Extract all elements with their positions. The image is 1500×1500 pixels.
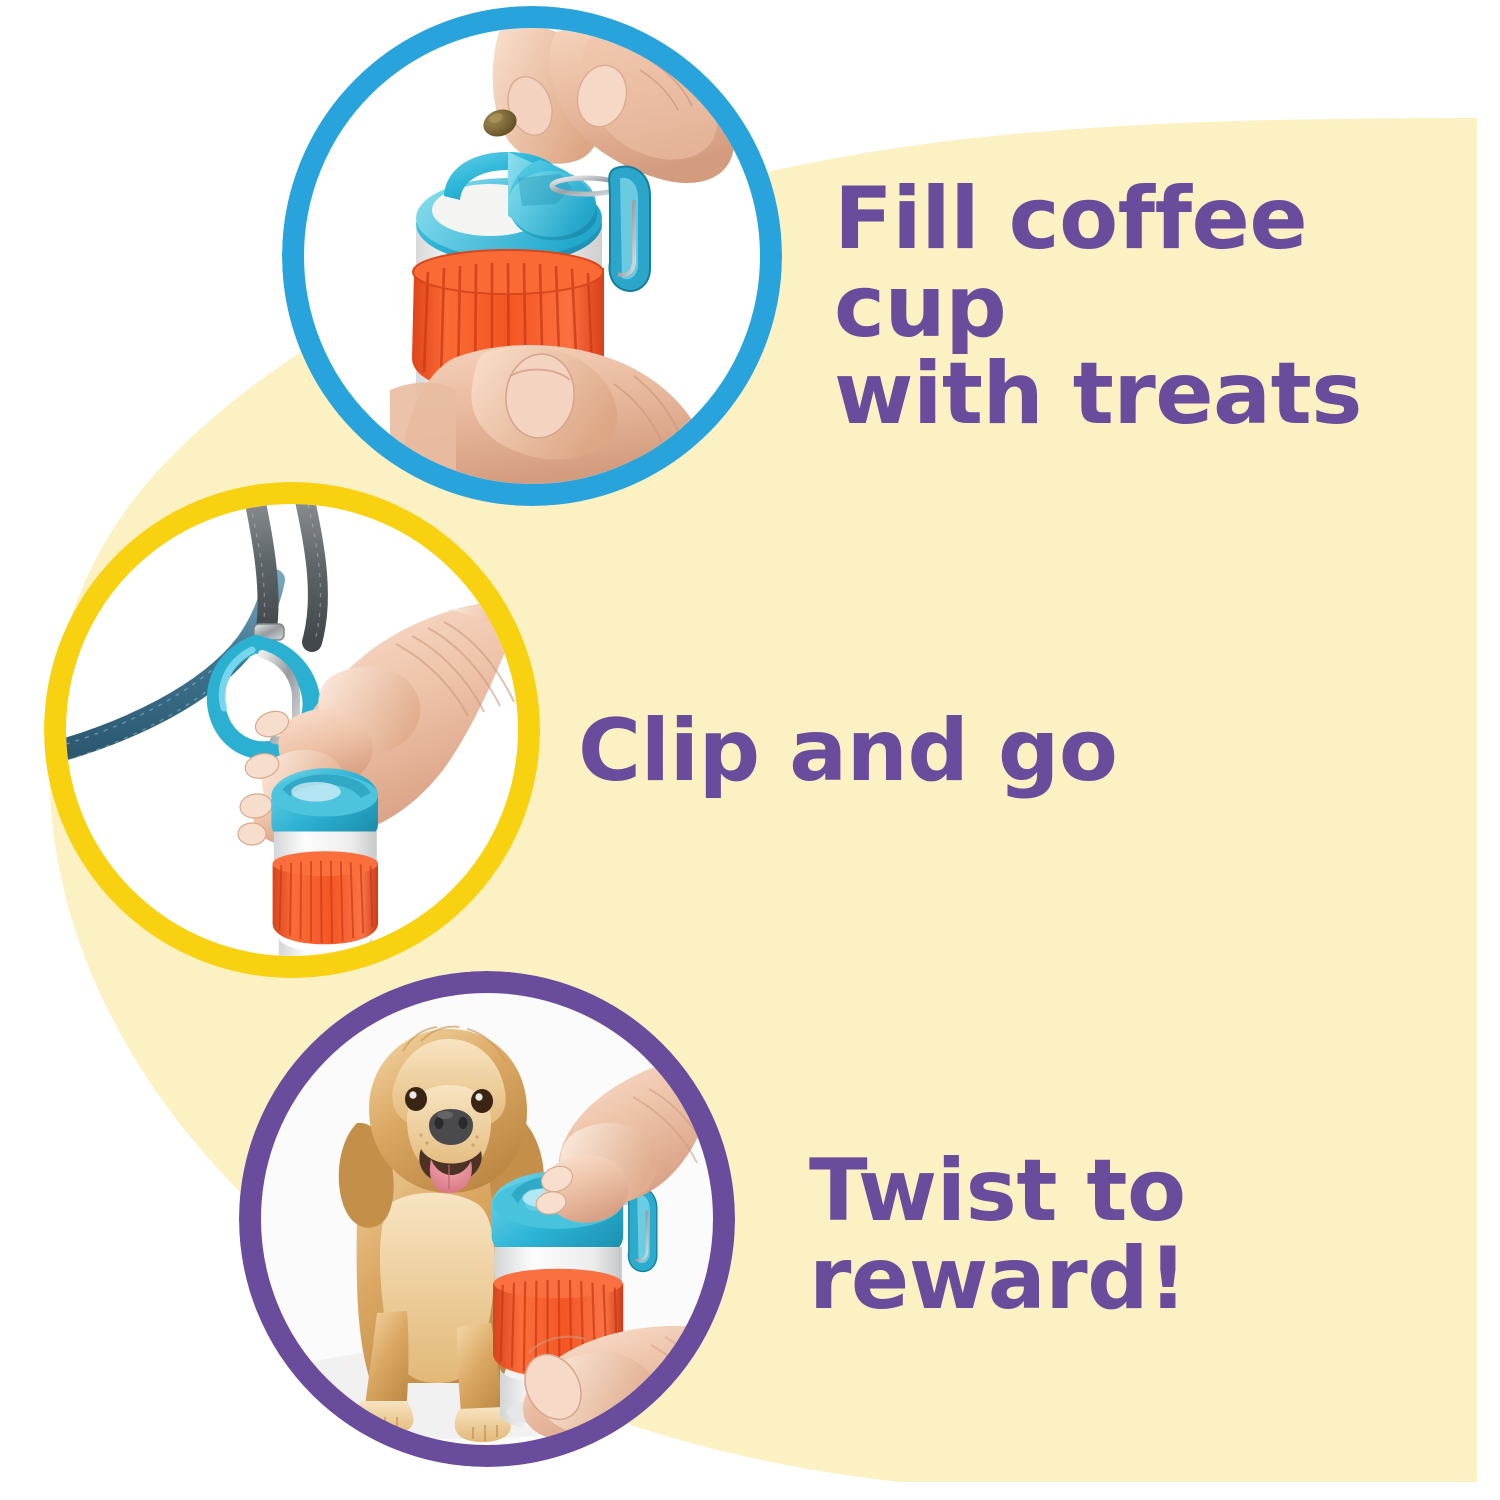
infographic-stage: Fill coffee cup with treats Clip and go … <box>0 0 1500 1500</box>
step-photo-twist-to-reward <box>239 971 735 1467</box>
photo-plate-clip <box>66 504 518 956</box>
photo-plate-twist <box>261 993 713 1445</box>
caption-fill-coffee-cup: Fill coffee cup with treats <box>834 176 1500 439</box>
treat-cup-group <box>271 768 378 956</box>
step-photo-clip-and-go <box>44 482 540 978</box>
step-photo-fill-coffee-cup <box>282 6 782 506</box>
caption-clip-and-go: Clip and go <box>578 708 1117 796</box>
caption-twist-to-reward: Twist to reward! <box>809 1148 1187 1323</box>
photo-plate-fill <box>304 28 760 484</box>
